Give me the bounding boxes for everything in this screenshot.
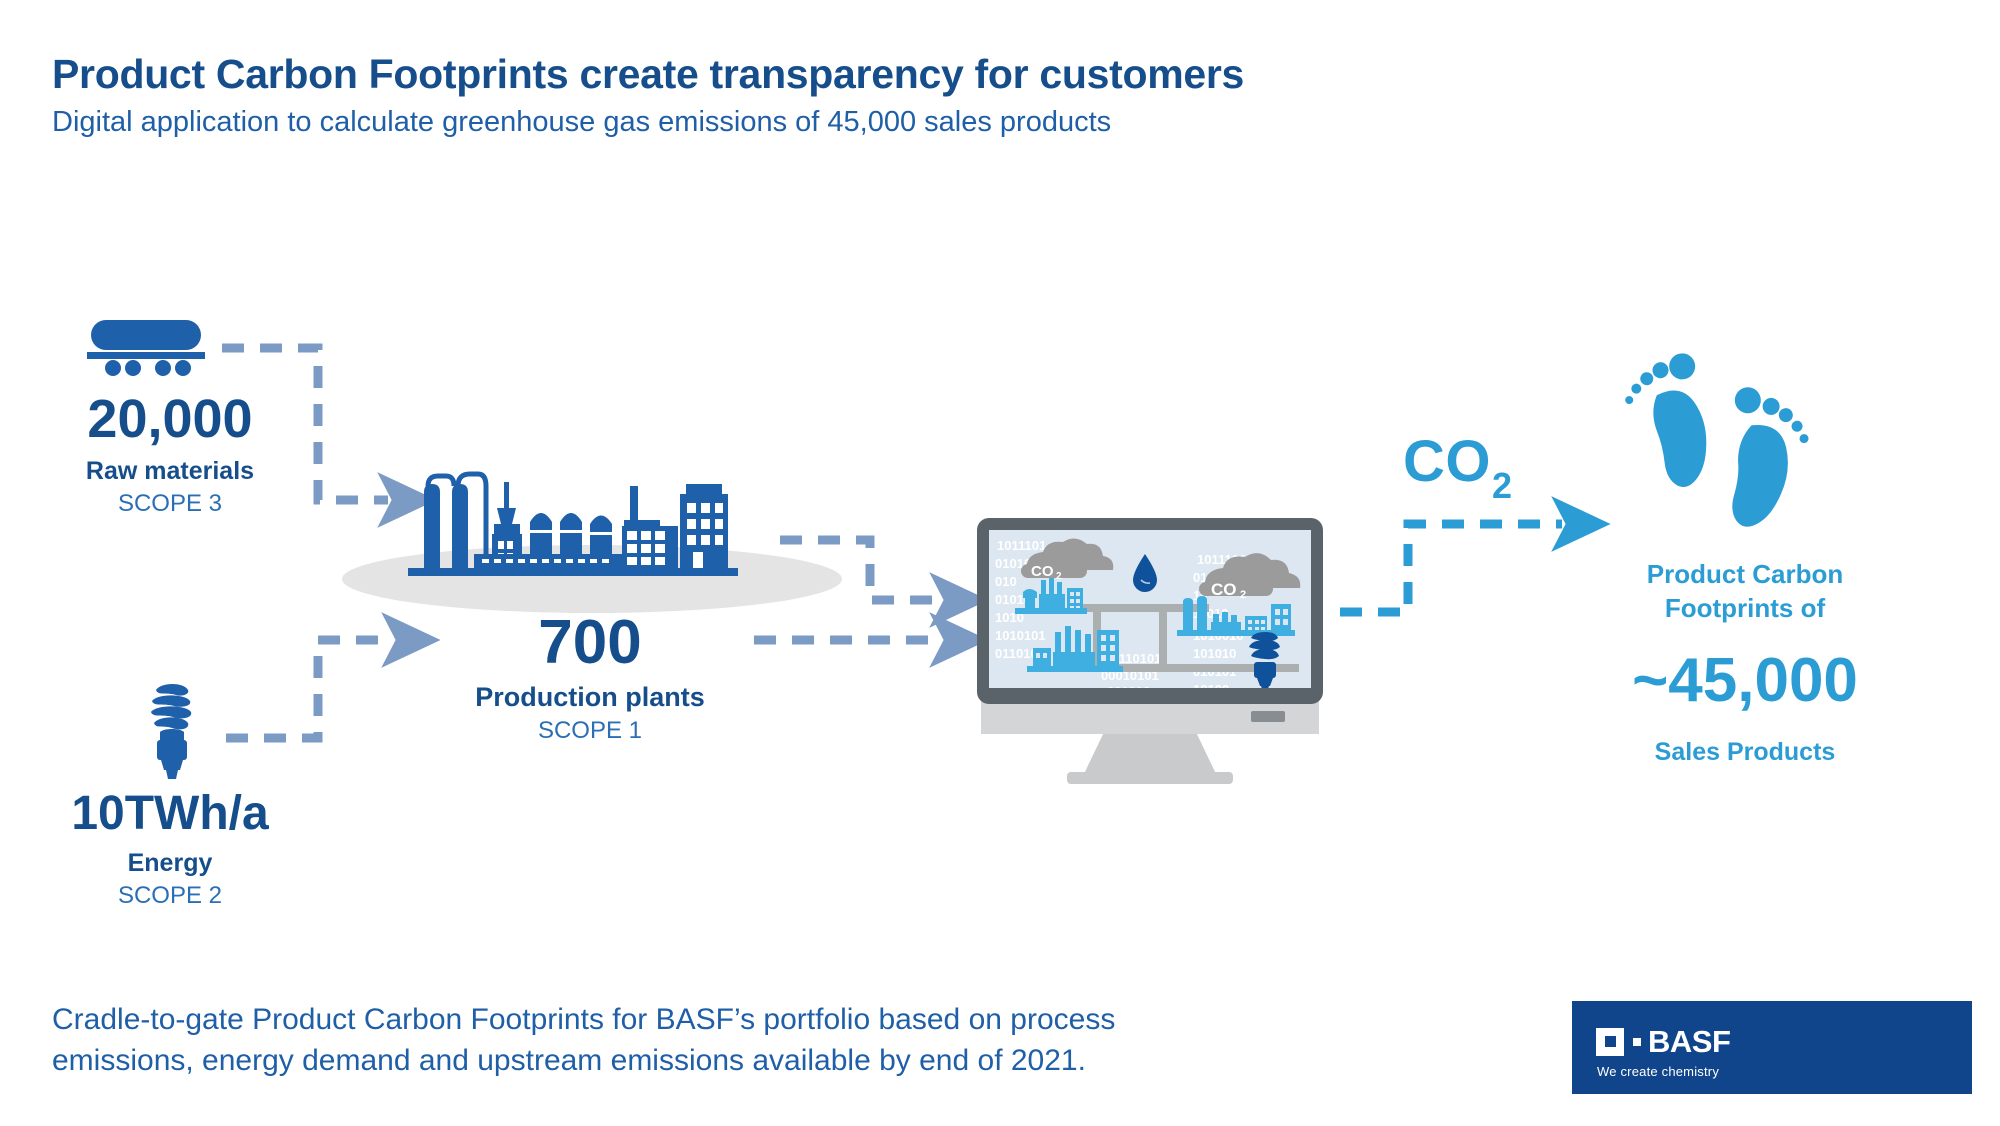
svg-text:010: 010 xyxy=(995,574,1017,589)
output-unit: Sales Products xyxy=(1530,738,1960,767)
footer-note-line2: emissions, energy demand and upstream em… xyxy=(52,1041,1452,1082)
output-result-block: Product Carbon Footprints of ~45,000 Sal… xyxy=(1530,558,1960,767)
svg-text:2: 2 xyxy=(1240,589,1246,601)
raw-materials-value: 20,000 xyxy=(30,392,310,446)
output-caption-line1: Product Carbon xyxy=(1530,558,1960,592)
energy-value: 10TWh/a xyxy=(30,790,310,838)
connector-app-to-output xyxy=(1340,524,1562,612)
output-value: ~45,000 xyxy=(1530,650,1960,712)
production-plants-stat: 700 Production plants SCOPE 1 xyxy=(330,612,850,745)
svg-text:1010101: 1010101 xyxy=(995,628,1046,643)
svg-text:1011101: 1011101 xyxy=(997,538,1046,553)
footer-note: Cradle-to-gate Product Carbon Footprints… xyxy=(52,1000,1452,1081)
footer-note-line1: Cradle-to-gate Product Carbon Footprints… xyxy=(52,1000,1452,1041)
chemical-plant-icon xyxy=(408,468,752,588)
desktop-monitor-icon: 1011101 01010 010 01010 1010 1010101 011… xyxy=(955,508,1345,788)
monitor-foot xyxy=(1067,772,1233,784)
raw-materials-label: Raw materials xyxy=(30,457,310,486)
monitor-indicator xyxy=(1251,711,1285,722)
co2-subscript: 2 xyxy=(1492,465,1513,506)
svg-text:CO: CO xyxy=(1031,563,1054,580)
svg-text:CO: CO xyxy=(1211,580,1237,599)
energy-label: Energy xyxy=(30,849,310,878)
raw-materials-stat: 20,000 Raw materials SCOPE 3 xyxy=(30,392,310,517)
production-plants-label: Production plants xyxy=(330,682,850,713)
basf-dot-icon xyxy=(1633,1038,1641,1046)
output-caption-line2: Footprints of xyxy=(1530,592,1960,626)
production-plants-value: 700 xyxy=(330,612,850,674)
footprints-icon xyxy=(1625,345,1815,541)
co2-output-label: CO2 xyxy=(1403,428,1512,503)
co2-text: CO xyxy=(1403,429,1491,494)
basf-square-icon xyxy=(1596,1028,1624,1056)
light-bulb-icon xyxy=(136,680,206,780)
basf-wordmark: BASF xyxy=(1648,1026,1730,1057)
svg-text:101010: 101010 xyxy=(1193,646,1236,661)
tanker-truck-icon xyxy=(85,318,209,378)
basf-logo: BASF We create chemistry xyxy=(1572,1001,1972,1094)
svg-text:2: 2 xyxy=(1056,571,1062,582)
production-plants-scope: SCOPE 1 xyxy=(330,717,850,745)
output-caption: Product Carbon Footprints of xyxy=(1530,558,1960,626)
monitor-stand xyxy=(1083,730,1217,776)
energy-scope: SCOPE 2 xyxy=(30,882,310,910)
energy-stat: 10TWh/a Energy SCOPE 2 xyxy=(30,790,310,909)
basf-square-inner xyxy=(1605,1036,1616,1047)
basf-mark: BASF xyxy=(1596,1026,1730,1057)
raw-materials-scope: SCOPE 3 xyxy=(30,490,310,518)
basf-tagline: We create chemistry xyxy=(1597,1064,1719,1079)
